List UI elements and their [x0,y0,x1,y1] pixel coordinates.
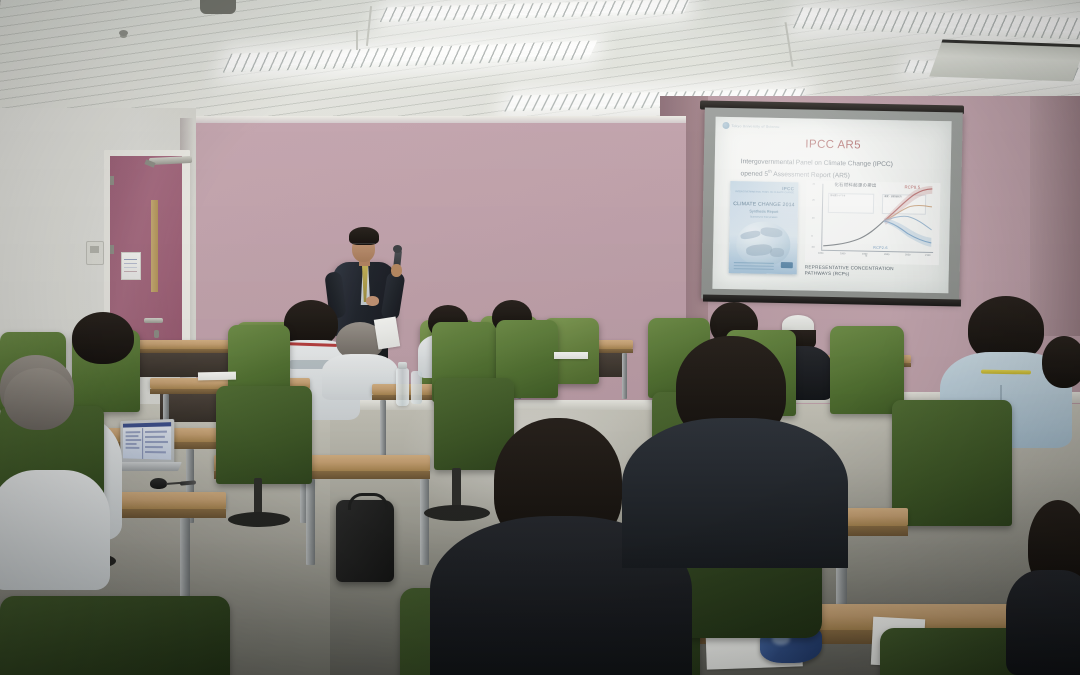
projected-slide: Tokyo University of Science IPCC AR5 Int… [712,117,951,293]
water-bottle-2 [411,371,422,404]
door-hinge [110,245,114,254]
desk-leg [420,479,429,565]
attendee-handout [374,316,400,349]
slide-projector-glow [712,117,951,293]
desk-leg [306,479,315,565]
desk-leg [380,400,386,456]
smoke-detector-icon [119,30,128,36]
door-lock[interactable] [154,330,159,338]
chair-foreground-4[interactable] [0,596,230,675]
presenter-hand-right [391,264,402,277]
attendee-right-head-2 [1042,336,1080,388]
chair-near-1[interactable] [216,386,312,484]
microphone-head-icon [393,245,402,253]
door-hinge [110,176,114,185]
light-switch-plate[interactable] [86,241,104,265]
attendee-right-edge-body [1006,570,1080,675]
attendee-left-foreground-head [4,368,74,430]
chair-mid-6[interactable] [830,326,904,414]
chair-post [452,468,461,510]
projector-mount [200,0,236,14]
presenter-glasses-icon [352,243,375,248]
chair-base [228,512,290,527]
classroom-photo-scene: Tokyo University of Science IPCC AR5 Int… [0,0,1080,675]
desk-leg [622,353,627,399]
bag-strap [348,493,388,510]
attendee-left-head-1 [72,312,134,364]
wall-notice-sheet [121,252,141,280]
water-bottle-1 [396,368,409,406]
attendee-foreground-right-body [622,418,848,568]
air-conditioning-vent [929,39,1080,81]
attendee-left-foreground-body [0,470,110,590]
desk-paper-2 [198,372,236,381]
ceiling-wire [356,30,358,50]
laptop-display [123,422,171,460]
attendee-yellow-lanyard-strap [981,370,1031,375]
chair-near-5[interactable] [892,400,1012,526]
chair-base [424,505,490,521]
wall-ceiling-joint [186,116,686,123]
water-bottle-cap [398,362,407,369]
door-vision-panel [151,200,158,292]
computer-mouse[interactable] [150,478,167,489]
floor-bag[interactable] [336,500,394,582]
attendee-laptop[interactable] [120,419,174,465]
door-handle[interactable] [144,318,163,323]
side-wall-right [1030,96,1080,336]
presenter-hand-left [366,296,379,306]
desk-paper-3 [554,352,588,359]
